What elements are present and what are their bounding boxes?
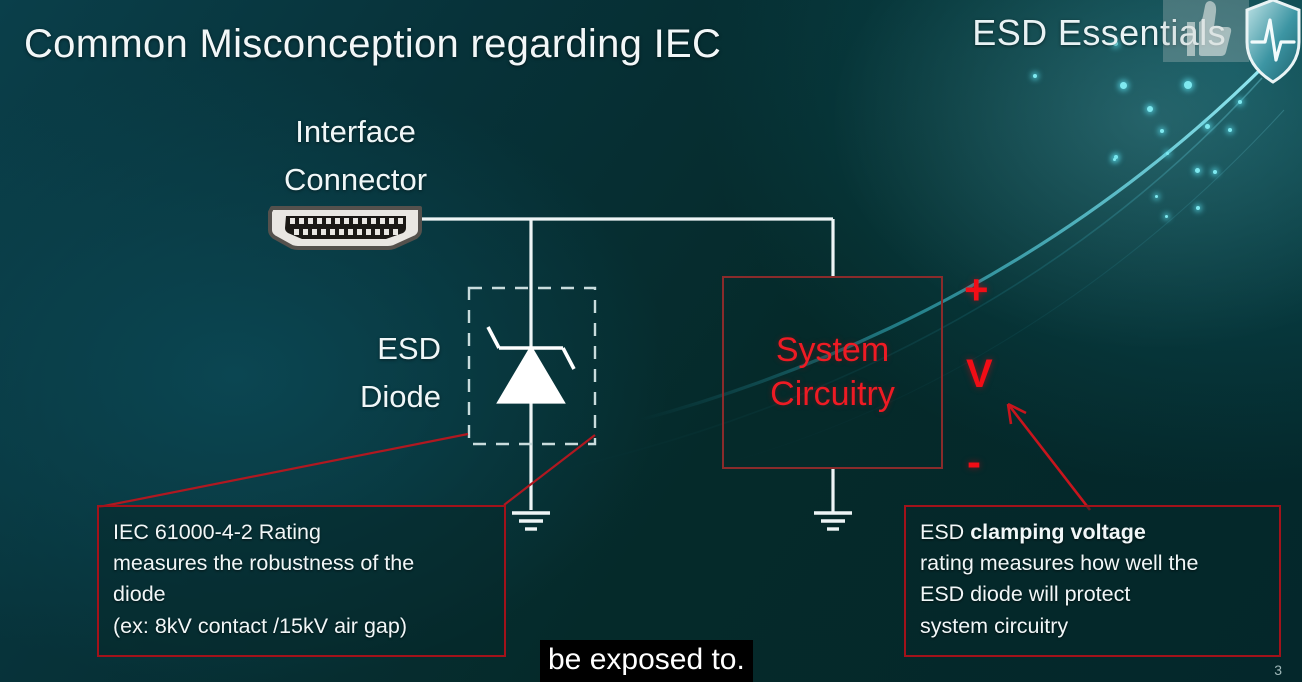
system-circuitry-line1: System: [776, 329, 889, 373]
callout-left-line: (ex: 8kV contact /15kV air gap): [113, 611, 490, 642]
interface-label-line2: Connector: [284, 156, 427, 204]
interface-connector-label: Interface Connector: [284, 108, 427, 204]
voltage-arrow-icon: [1008, 404, 1090, 510]
interface-label-line1: Interface: [284, 108, 427, 156]
page-number: 3: [1274, 662, 1282, 678]
plus-polarity-label: +: [964, 266, 989, 314]
callout-right-line1-prefix: ESD: [920, 520, 970, 544]
callout-right-line1-bold: clamping voltage: [970, 520, 1146, 544]
minus-polarity-label: -: [967, 438, 981, 486]
hdmi-connector-icon: [268, 204, 424, 252]
subtitle-caption: be exposed to.: [540, 640, 753, 682]
system-circuitry-line2: Circuitry: [770, 373, 895, 417]
voltage-label: V: [966, 352, 993, 397]
esd-label-line1: ESD: [360, 325, 441, 373]
esd-label-line2: Diode: [360, 373, 441, 421]
system-circuitry-block: System Circuitry: [722, 276, 943, 469]
slide-canvas: Common Misconception regarding IEC ESD E…: [0, 0, 1302, 682]
callout-left-line: IEC 61000-4-2 Rating: [113, 517, 490, 548]
callout-right-line4: system circuitry: [920, 611, 1265, 642]
callout-left-line: diode: [113, 579, 490, 610]
ground-symbol-icon: [512, 513, 550, 529]
callout-right-line3: ESD diode will protect: [920, 579, 1265, 610]
callout-right-line2: rating measures how well the: [920, 548, 1265, 579]
ground-symbol-icon: [814, 513, 852, 529]
esd-diode-label: ESD Diode: [360, 325, 441, 421]
callout-right-line1: ESD clamping voltage: [920, 517, 1265, 548]
callout-left-line: measures the robustness of the: [113, 548, 490, 579]
iec-rating-callout: IEC 61000-4-2 Rating measures the robust…: [97, 505, 506, 657]
clamping-voltage-callout: ESD clamping voltage rating measures how…: [904, 505, 1281, 657]
